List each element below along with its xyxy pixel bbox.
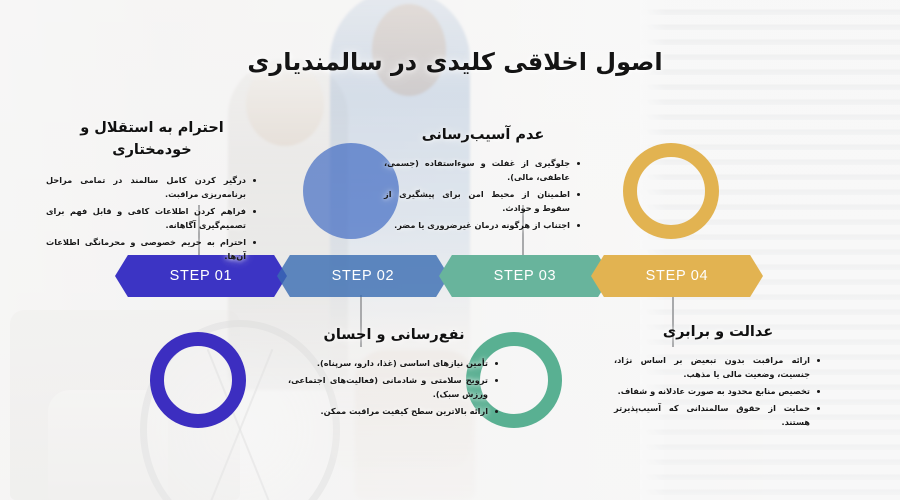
bullet-item: اطمینان از محیط امن برای پیشگیری از سقوط…	[384, 187, 582, 215]
section-nonmaleficence: عدم آسیب‌رسانی جلوگیری از غفلت و سوءاستف…	[384, 125, 582, 235]
section-heading-nonmaleficence: عدم آسیب‌رسانی	[384, 125, 582, 147]
bullet-item: درگیر کردن کامل سالمند در تمامی مراحل بر…	[46, 173, 258, 201]
step-label-03: STEP 03	[494, 268, 557, 284]
section-bullets-justice: ارائه مراقبت بدون تبعیض بر اساس نژاد، جن…	[614, 353, 822, 430]
step-chip-04[interactable]: STEP 04	[591, 255, 763, 297]
bullet-item: ارائه بالاترین سطح کیفیت مراقبت ممکن.	[288, 404, 500, 418]
bullet-item: ترویج سلامتی و شادمانی (فعالیت‌های اجتما…	[288, 373, 500, 401]
page-title: اصول اخلاقی کلیدی در سالمندیاری	[245, 46, 665, 78]
section-autonomy: احترام به استقلال و خودمختاری درگیر کردن…	[46, 118, 258, 266]
section-bullets-autonomy: درگیر کردن کامل سالمند در تمامی مراحل بر…	[46, 173, 258, 264]
section-heading-justice: عدالت و برابری	[614, 322, 822, 344]
bullet-item: تأمین نیازهای اساسی (غذا، دارو، سرپناه).	[288, 356, 500, 370]
section-bullets-nonmaleficence: جلوگیری از غفلت و سوءاستفاده (جسمی، عاطف…	[384, 156, 582, 233]
step-chip-03[interactable]: STEP 03	[439, 255, 611, 297]
bullet-item: تخصیص منابع محدود به صورت عادلانه و شفاف…	[614, 384, 822, 398]
step-label-04: STEP 04	[646, 268, 709, 284]
step-chip-02[interactable]: STEP 02	[277, 255, 449, 297]
step-label-01: STEP 01	[170, 268, 233, 284]
infographic-canvas: اصول اخلاقی کلیدی در سالمندیاری STEP 01 …	[0, 0, 900, 500]
bullet-item: اجتناب از هرگونه درمان غیرضروری یا مضر.	[384, 218, 582, 232]
bullet-item: حمایت از حقوق سالمندانی که آسیب‌پذیرتر ه…	[614, 401, 822, 429]
bullet-item: احترام به حریم خصوصی و محرمانگی اطلاعات …	[46, 235, 258, 263]
bullet-item: ارائه مراقبت بدون تبعیض بر اساس نژاد، جن…	[614, 353, 822, 381]
section-heading-autonomy: احترام به استقلال و خودمختاری	[46, 118, 258, 162]
step-label-02: STEP 02	[332, 268, 395, 284]
bullet-item: جلوگیری از غفلت و سوءاستفاده (جسمی، عاطف…	[384, 156, 582, 184]
gold-ring-icon	[623, 143, 719, 239]
section-beneficence: نفع‌رسانی و احسان تأمین نیازهای اساسی (غ…	[288, 325, 500, 421]
bullet-item: فراهم کردن اطلاعات کافی و قابل فهم برای …	[46, 204, 258, 232]
indigo-ring-icon	[150, 332, 246, 428]
section-bullets-beneficence: تأمین نیازهای اساسی (غذا، دارو، سرپناه).…	[288, 356, 500, 418]
section-justice: عدالت و برابری ارائه مراقبت بدون تبعیض ب…	[614, 322, 822, 432]
section-heading-beneficence: نفع‌رسانی و احسان	[288, 325, 500, 347]
